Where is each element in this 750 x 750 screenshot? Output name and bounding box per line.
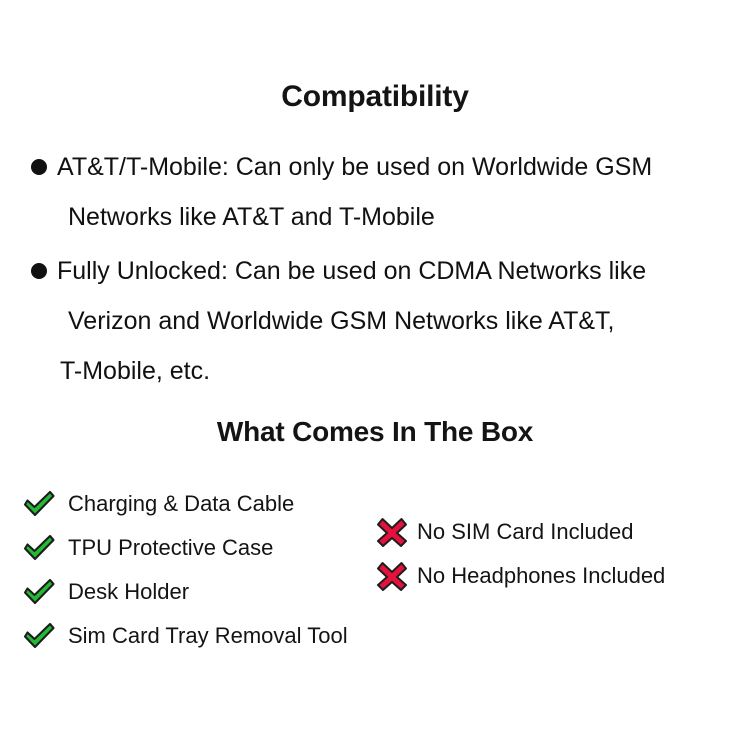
compatibility-bullet-item: Fully Unlocked: Can be used on CDMA Netw… bbox=[0, 246, 750, 396]
list-item-label: TPU Protective Case bbox=[68, 535, 273, 561]
list-item-label: Sim Card Tray Removal Tool bbox=[68, 623, 348, 649]
in-the-box-heading: What Comes In The Box bbox=[0, 416, 750, 448]
bullet-line: AT&T/T-Mobile: Can only be used on World… bbox=[0, 142, 750, 192]
list-item: No SIM Card Included bbox=[376, 510, 665, 554]
bullet-line: Verizon and Worldwide GSM Networks like … bbox=[0, 296, 750, 346]
green-check-icon bbox=[22, 622, 56, 650]
list-item: TPU Protective Case bbox=[22, 526, 348, 570]
green-check-icon bbox=[22, 534, 56, 562]
bullet-dot-icon bbox=[31, 263, 47, 279]
bullet-text: T-Mobile, etc. bbox=[60, 357, 210, 385]
bullet-text: Networks like AT&T and T-Mobile bbox=[68, 203, 435, 231]
list-item-label: Desk Holder bbox=[68, 579, 189, 605]
list-item-label: No SIM Card Included bbox=[417, 519, 633, 545]
bullet-text: Fully Unlocked: Can be used on CDMA Netw… bbox=[57, 257, 646, 285]
list-item: Charging & Data Cable bbox=[22, 482, 348, 526]
list-item-label: No Headphones Included bbox=[417, 563, 665, 589]
product-info-page: Compatibility AT&T/T-Mobile: Can only be… bbox=[0, 0, 750, 750]
compatibility-heading: Compatibility bbox=[0, 80, 750, 114]
bullet-line: Networks like AT&T and T-Mobile bbox=[0, 192, 750, 242]
green-check-icon bbox=[22, 578, 56, 606]
excluded-items-list: No SIM Card Included No Headphones Inclu… bbox=[376, 510, 665, 598]
bullet-text: Verizon and Worldwide GSM Networks like … bbox=[68, 307, 615, 335]
bullet-line: T-Mobile, etc. bbox=[0, 346, 750, 396]
bullet-text: AT&T/T-Mobile: Can only be used on World… bbox=[57, 153, 652, 181]
red-x-icon bbox=[376, 517, 408, 547]
bullet-line: Fully Unlocked: Can be used on CDMA Netw… bbox=[0, 246, 750, 296]
compatibility-bullet-list: AT&T/T-Mobile: Can only be used on World… bbox=[0, 142, 750, 400]
compatibility-bullet-item: AT&T/T-Mobile: Can only be used on World… bbox=[0, 142, 750, 242]
red-x-icon bbox=[376, 561, 408, 591]
list-item: Desk Holder bbox=[22, 570, 348, 614]
list-item: Sim Card Tray Removal Tool bbox=[22, 614, 348, 658]
list-item-label: Charging & Data Cable bbox=[68, 491, 294, 517]
green-check-icon bbox=[22, 490, 56, 518]
bullet-dot-icon bbox=[31, 159, 47, 175]
included-items-list: Charging & Data Cable TPU Protective Cas… bbox=[22, 482, 348, 658]
list-item: No Headphones Included bbox=[376, 554, 665, 598]
